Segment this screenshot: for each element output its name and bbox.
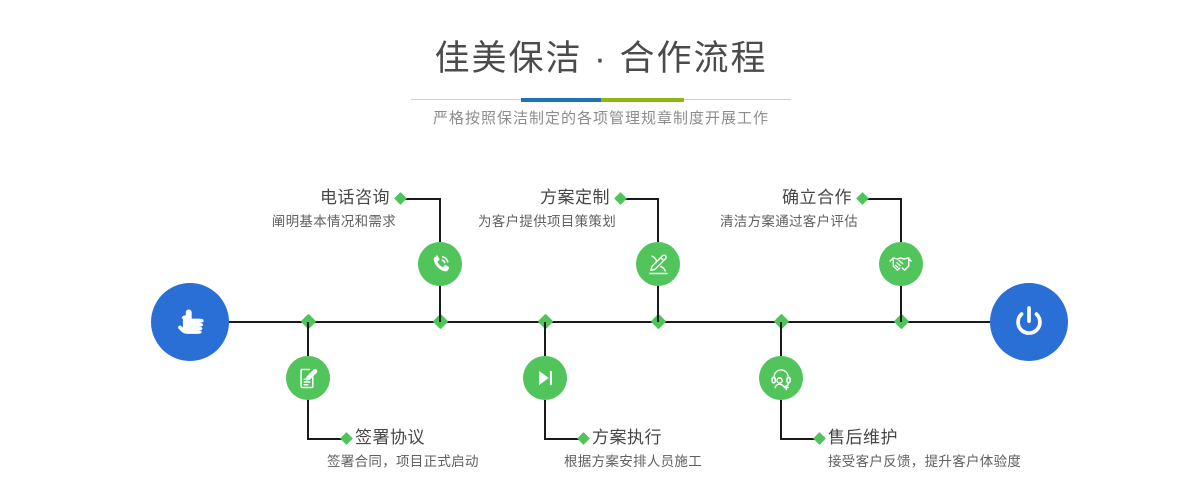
step-subtitle-6: 接受客户反馈，提升客户体验度 — [828, 452, 1168, 472]
step-subtitle-5: 清洁方案通过客户评估 — [568, 212, 858, 232]
step-node-2[interactable] — [286, 356, 330, 400]
page-title: 佳美保洁 · 合作流程 — [0, 38, 1202, 80]
connector-step-5 — [900, 285, 902, 322]
step-title-5: 确立合作 — [618, 187, 852, 209]
sign-document-icon — [296, 366, 321, 391]
timeline-end-endpoint[interactable] — [990, 283, 1068, 361]
page-subtitle: 严格按照保洁制定的各项管理规章制度开展工作 — [0, 108, 1202, 130]
handshake-icon — [888, 251, 914, 277]
callout-dot-2 — [340, 432, 353, 445]
hand-pointing-icon — [170, 302, 210, 342]
callout-lead-v-6 — [780, 400, 782, 439]
phone-call-icon — [427, 251, 453, 277]
step-title-6: 售后维护 — [828, 427, 1128, 449]
connector-step-6 — [780, 322, 782, 356]
divider-segment-blue — [521, 98, 601, 102]
pencil-plan-icon — [646, 252, 671, 277]
step-title-3: 方案定制 — [376, 187, 610, 209]
connector-step-4 — [544, 322, 546, 356]
callout-lead-v-2 — [307, 400, 309, 439]
connector-step-2 — [307, 322, 309, 356]
step-node-3[interactable] — [636, 242, 680, 286]
step-node-1[interactable] — [418, 242, 462, 286]
step-node-5[interactable] — [879, 242, 923, 286]
step-node-6[interactable] — [759, 356, 803, 400]
connector-step-3 — [657, 285, 659, 322]
play-execute-icon — [533, 366, 557, 390]
callout-dot-5 — [856, 192, 869, 205]
customer-support-icon — [769, 366, 794, 391]
timeline-start-endpoint[interactable] — [151, 283, 229, 361]
divider-segment-green — [601, 98, 684, 102]
callout-lead-v-5 — [900, 198, 902, 242]
step-title-1: 电话咨询 — [156, 187, 390, 209]
power-icon — [1008, 301, 1050, 343]
callout-lead-v-4 — [544, 400, 546, 439]
connector-step-1 — [439, 285, 441, 322]
step-node-4[interactable] — [523, 356, 567, 400]
flowchart-page: 佳美保洁 · 合作流程 严格按照保洁制定的各项管理规章制度开展工作 — [0, 0, 1202, 502]
